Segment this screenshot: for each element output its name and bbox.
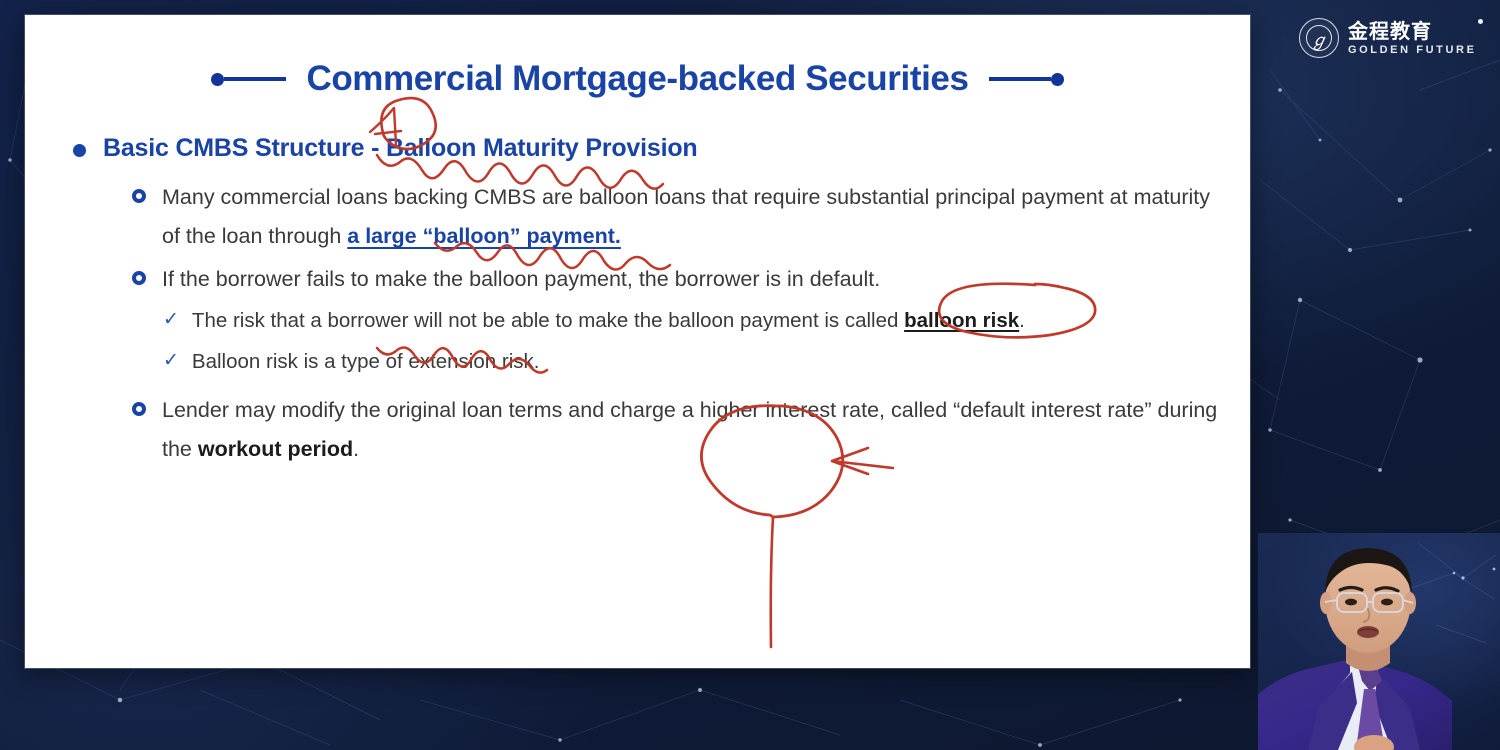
list-item: Many commercial loans backing CMBS are b… <box>25 178 1250 256</box>
title-decoration-left-icon <box>211 73 286 86</box>
logo-name-en: GOLDEN FUTURE <box>1348 45 1477 56</box>
heading-prefix: Basic CMBS Structure - <box>103 134 386 162</box>
logo-name-cn: 金程教育 <box>1348 21 1477 41</box>
list-item-text: If the borrower fails to make the balloo… <box>162 260 880 299</box>
logo-emblem-icon: ℊ <box>1299 18 1339 58</box>
brand-logo: ℊ 金程教育 GOLDEN FUTURE <box>1299 18 1477 58</box>
text-segment: . <box>353 437 359 461</box>
logo-wordmark: 金程教育 GOLDEN FUTURE <box>1348 21 1477 56</box>
slide-body: Basic CMBS Structure - Balloon Maturity … <box>25 133 1250 472</box>
logo-trademark-dot-icon <box>1478 19 1483 24</box>
list-item-text: Many commercial loans backing CMBS are b… <box>162 178 1232 256</box>
bullet-ring-icon <box>132 189 146 203</box>
sub-list-item-text: The risk that a borrower will not be abl… <box>192 302 1025 341</box>
check-mark-icon: ✓ <box>163 349 179 372</box>
sub-list-item: ✓ Balloon risk is a type of extension ri… <box>25 343 1250 382</box>
list-item-text: Lender may modify the original loan term… <box>162 391 1232 469</box>
page-title: Commercial Mortgage-backed Securities <box>306 59 968 99</box>
balloon-string <box>771 517 773 647</box>
check-mark-icon: ✓ <box>163 308 179 331</box>
text-segment: The risk that a borrower will not be abl… <box>192 309 904 332</box>
section-heading: Basic CMBS Structure - Balloon Maturity … <box>103 133 697 164</box>
text-segment: . <box>1019 309 1025 332</box>
emphasis-balloon-payment: a large “balloon” payment. <box>347 224 621 248</box>
bullet-ring-icon <box>132 402 146 416</box>
emphasis-balloon-risk: balloon risk <box>904 309 1019 332</box>
presenter-video[interactable] <box>1258 533 1500 750</box>
heading-emphasis: Balloon Maturity Provision <box>386 134 698 162</box>
presentation-stage: Commercial Mortgage-backed Securities Ba… <box>0 0 1500 750</box>
logo-monogram: ℊ <box>1306 25 1332 51</box>
bullet-disc-icon <box>73 144 86 157</box>
text-segment: Many commercial loans backing CMBS are b… <box>162 185 1210 248</box>
presenter-portrait <box>1258 533 1500 750</box>
emphasis-workout-period: workout period <box>198 437 353 461</box>
section-heading-row: Basic CMBS Structure - Balloon Maturity … <box>25 133 1250 164</box>
list-item: If the borrower fails to make the balloo… <box>25 260 1250 299</box>
slide-title-row: Commercial Mortgage-backed Securities <box>25 59 1250 99</box>
list-item: Lender may modify the original loan term… <box>25 391 1250 469</box>
sub-list-item-text: Balloon risk is a type of extension risk… <box>192 343 540 382</box>
title-decoration-right-icon <box>989 73 1064 86</box>
sub-list-item: ✓ The risk that a borrower will not be a… <box>25 302 1250 341</box>
slide-canvas: Commercial Mortgage-backed Securities Ba… <box>25 15 1250 668</box>
bullet-ring-icon <box>132 271 146 285</box>
